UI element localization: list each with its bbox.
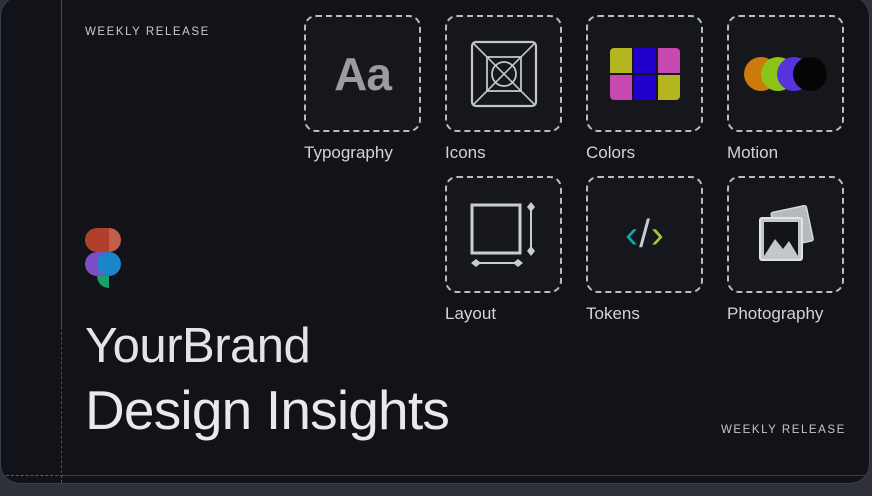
figma-logo <box>85 228 133 300</box>
code-slash: / <box>639 215 650 254</box>
tile-photography-label: Photography <box>727 301 844 327</box>
typography-aa-icon: Aa <box>334 51 391 97</box>
tile-layout-box[interactable] <box>445 176 562 293</box>
motion-circle <box>793 57 827 91</box>
tile-tokens[interactable]: ‹ / › Tokens <box>586 176 703 327</box>
color-swatch <box>610 75 632 100</box>
tile-typography[interactable]: Aa Typography <box>304 15 421 166</box>
tile-icons-label: Icons <box>445 140 487 166</box>
code-brackets-icon: ‹ / › <box>625 215 664 254</box>
tile-colors-label: Colors <box>586 140 703 166</box>
tile-motion[interactable]: Motion <box>727 15 844 166</box>
color-swatch <box>610 48 632 73</box>
slide-frame: WEEKLY RELEASE WEEKLY RELEASE Aa Typogra… <box>0 0 872 496</box>
tile-icons-box[interactable] <box>445 15 562 132</box>
eyebrow-label-bottom: WEEKLY RELEASE <box>721 424 846 436</box>
figma-shape-green <box>97 276 109 288</box>
motion-circles-icon <box>744 57 828 91</box>
tile-colors[interactable]: Colors <box>586 15 703 166</box>
code-bracket-left: ‹ <box>625 215 638 254</box>
color-swatch <box>658 75 680 100</box>
tile-motion-label: Motion <box>727 140 844 166</box>
guide-vertical-dashed <box>61 327 62 483</box>
figma-shape-red <box>85 228 109 252</box>
figma-shape-blue <box>97 252 121 276</box>
figma-shape-orange <box>109 228 121 252</box>
tile-tokens-box[interactable]: ‹ / › <box>586 176 703 293</box>
photo-stack-icon <box>749 201 823 269</box>
color-swatches-icon <box>610 48 680 100</box>
tile-photography-box[interactable] <box>727 176 844 293</box>
tile-icons[interactable]: Icons <box>445 15 562 166</box>
color-swatch <box>658 48 680 73</box>
tile-colors-box[interactable] <box>586 15 703 132</box>
page-title-line-2: Design Insights <box>85 377 449 443</box>
tile-typography-box[interactable]: Aa <box>304 15 421 132</box>
guide-horizontal-solid <box>63 475 869 476</box>
icon-square-cross-circle-icon <box>468 38 540 110</box>
color-swatch <box>634 75 656 100</box>
design-system-tile-grid: Aa Typography Icons <box>304 15 870 327</box>
tile-spacer-box <box>304 176 421 293</box>
tile-photography[interactable]: Photography <box>727 176 844 327</box>
page-title-line-1: YourBrand <box>85 315 449 377</box>
guide-vertical-solid <box>61 0 62 327</box>
tile-typography-label: Typography <box>304 140 421 166</box>
headline-block: YourBrand Design Insights <box>85 315 449 443</box>
tile-layout[interactable]: Layout <box>445 176 562 327</box>
code-bracket-right: › <box>651 215 664 254</box>
color-swatch <box>634 48 656 73</box>
tile-motion-box[interactable] <box>727 15 844 132</box>
tile-layout-label: Layout <box>445 301 562 327</box>
guide-horizontal-dashed <box>1 475 63 476</box>
layout-measure-square-icon <box>466 197 542 273</box>
tile-spacer <box>304 176 421 327</box>
slide-canvas: WEEKLY RELEASE WEEKLY RELEASE Aa Typogra… <box>0 0 870 484</box>
eyebrow-label-top: WEEKLY RELEASE <box>85 26 210 38</box>
tile-tokens-label: Tokens <box>586 301 703 327</box>
